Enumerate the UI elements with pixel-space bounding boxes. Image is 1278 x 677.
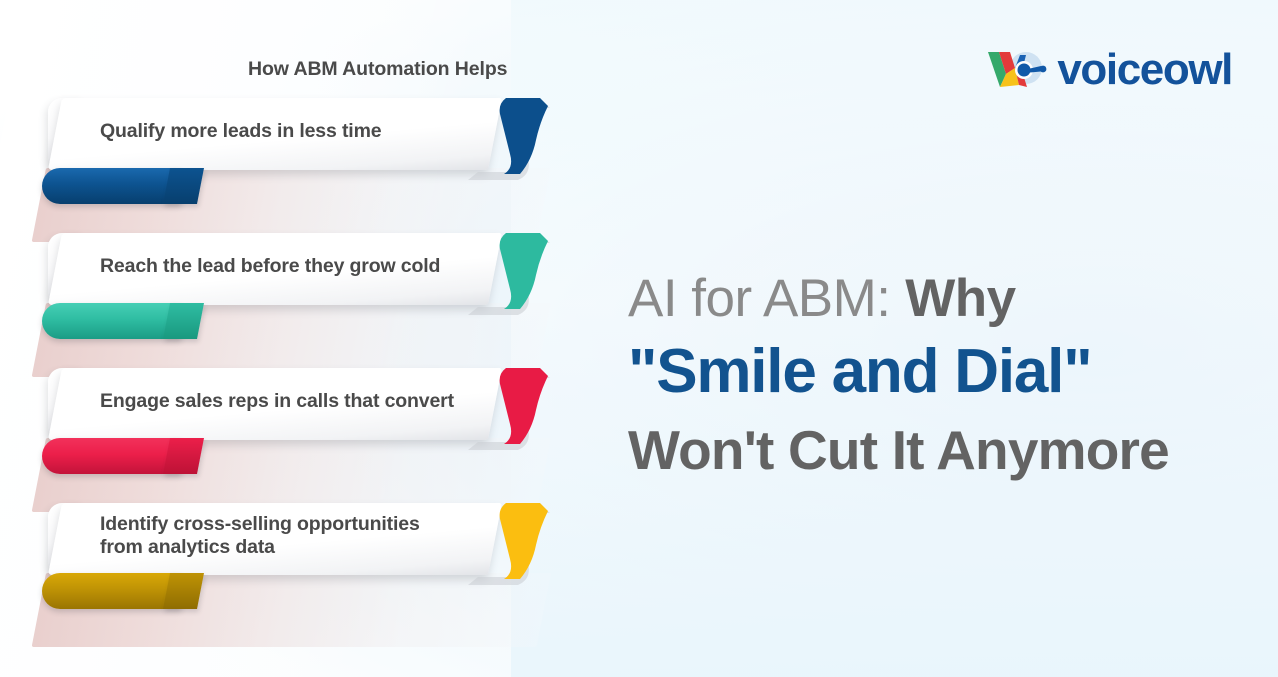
headline-line-1-light: AI for ABM: xyxy=(628,269,891,328)
card-text: Qualify more leads in less time xyxy=(100,92,500,170)
card-text: Engage sales reps in calls that convert xyxy=(100,362,500,440)
card-accent-wedge xyxy=(163,168,204,204)
card-text: Identify cross-selling opportunities fro… xyxy=(100,497,500,575)
card-text: Reach the lead before they grow cold xyxy=(100,227,500,305)
logo-wordmark: voiceowl xyxy=(1057,48,1232,92)
card-text-line-1: Qualify more leads in less time xyxy=(100,120,500,143)
card-text-line-2: from analytics data xyxy=(100,536,500,559)
card-accent-wedge xyxy=(163,438,204,474)
card-accent-bar xyxy=(42,168,182,204)
infographic-canvas: How ABM Automation Helps voiceowl xyxy=(0,0,1278,677)
headline-line-3: Won't Cut It Anymore xyxy=(628,423,1253,478)
benefit-card[interactable]: Qualify more leads in less time xyxy=(0,92,600,242)
brand-logo[interactable]: voiceowl xyxy=(986,47,1232,93)
card-text-line-1: Engage sales reps in calls that convert xyxy=(100,390,500,413)
benefit-card-list: Qualify more leads in less time Reach th… xyxy=(0,0,620,677)
card-text-line-1: Reach the lead before they grow cold xyxy=(100,255,500,278)
card-accent-wedge xyxy=(163,303,204,339)
card-accent-bar xyxy=(42,573,182,609)
headline-block: AI for ABM: Why "Smile and Dial" Won't C… xyxy=(628,272,1253,478)
headline-line-1: AI for ABM: Why xyxy=(628,272,1253,325)
card-text-line-1: Identify cross-selling opportunities xyxy=(100,513,500,536)
headline-line-1-bold: Why xyxy=(905,269,1015,328)
card-accent-bar xyxy=(42,438,182,474)
benefit-card[interactable]: Identify cross-selling opportunities fro… xyxy=(0,497,600,647)
voiceowl-logo-mark xyxy=(986,47,1048,93)
card-accent-wedge xyxy=(163,573,204,609)
benefit-card[interactable]: Engage sales reps in calls that convert xyxy=(0,362,600,512)
benefit-card[interactable]: Reach the lead before they grow cold xyxy=(0,227,600,377)
headline-line-2: "Smile and Dial" xyxy=(628,341,1253,403)
card-accent-bar xyxy=(42,303,182,339)
